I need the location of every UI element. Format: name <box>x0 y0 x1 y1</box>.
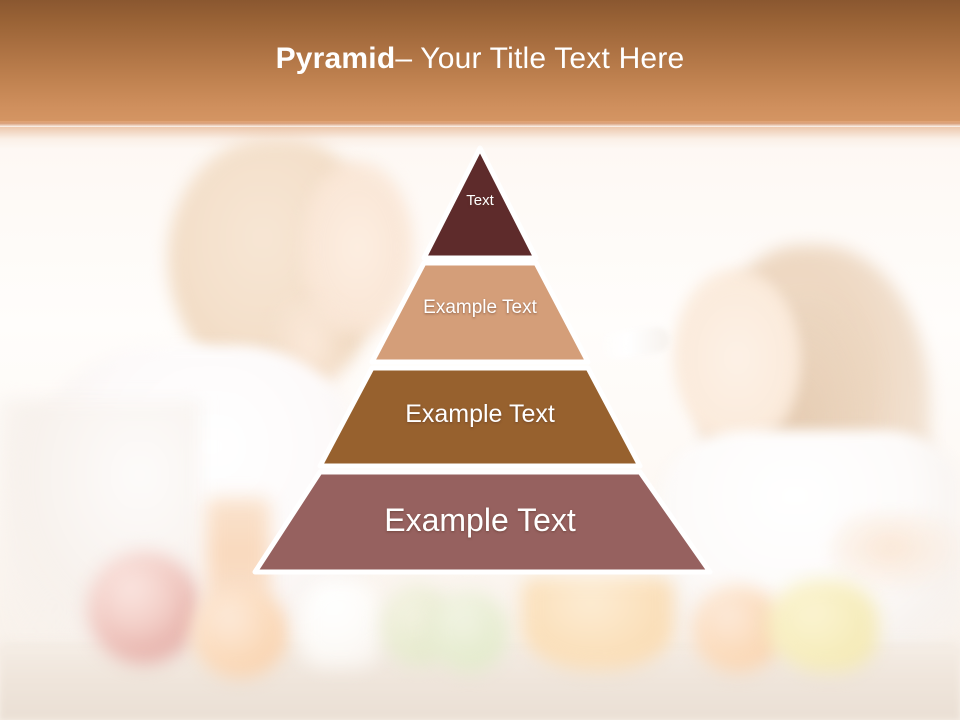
slide: Text Example Text Example Text Example T… <box>0 0 960 720</box>
pyramid-tier-3[interactable] <box>320 368 640 466</box>
pyramid-tier-1[interactable] <box>424 148 536 258</box>
page-title-bold: Pyramid <box>276 42 396 76</box>
title-banner-glow <box>0 127 960 149</box>
pyramid-tier-2[interactable] <box>372 263 588 362</box>
page-title-rest: – Your Title Text Here <box>395 42 684 76</box>
page-title: Pyramid – Your Title Text Here <box>0 0 960 121</box>
pyramid-tier-4[interactable] <box>255 472 710 572</box>
